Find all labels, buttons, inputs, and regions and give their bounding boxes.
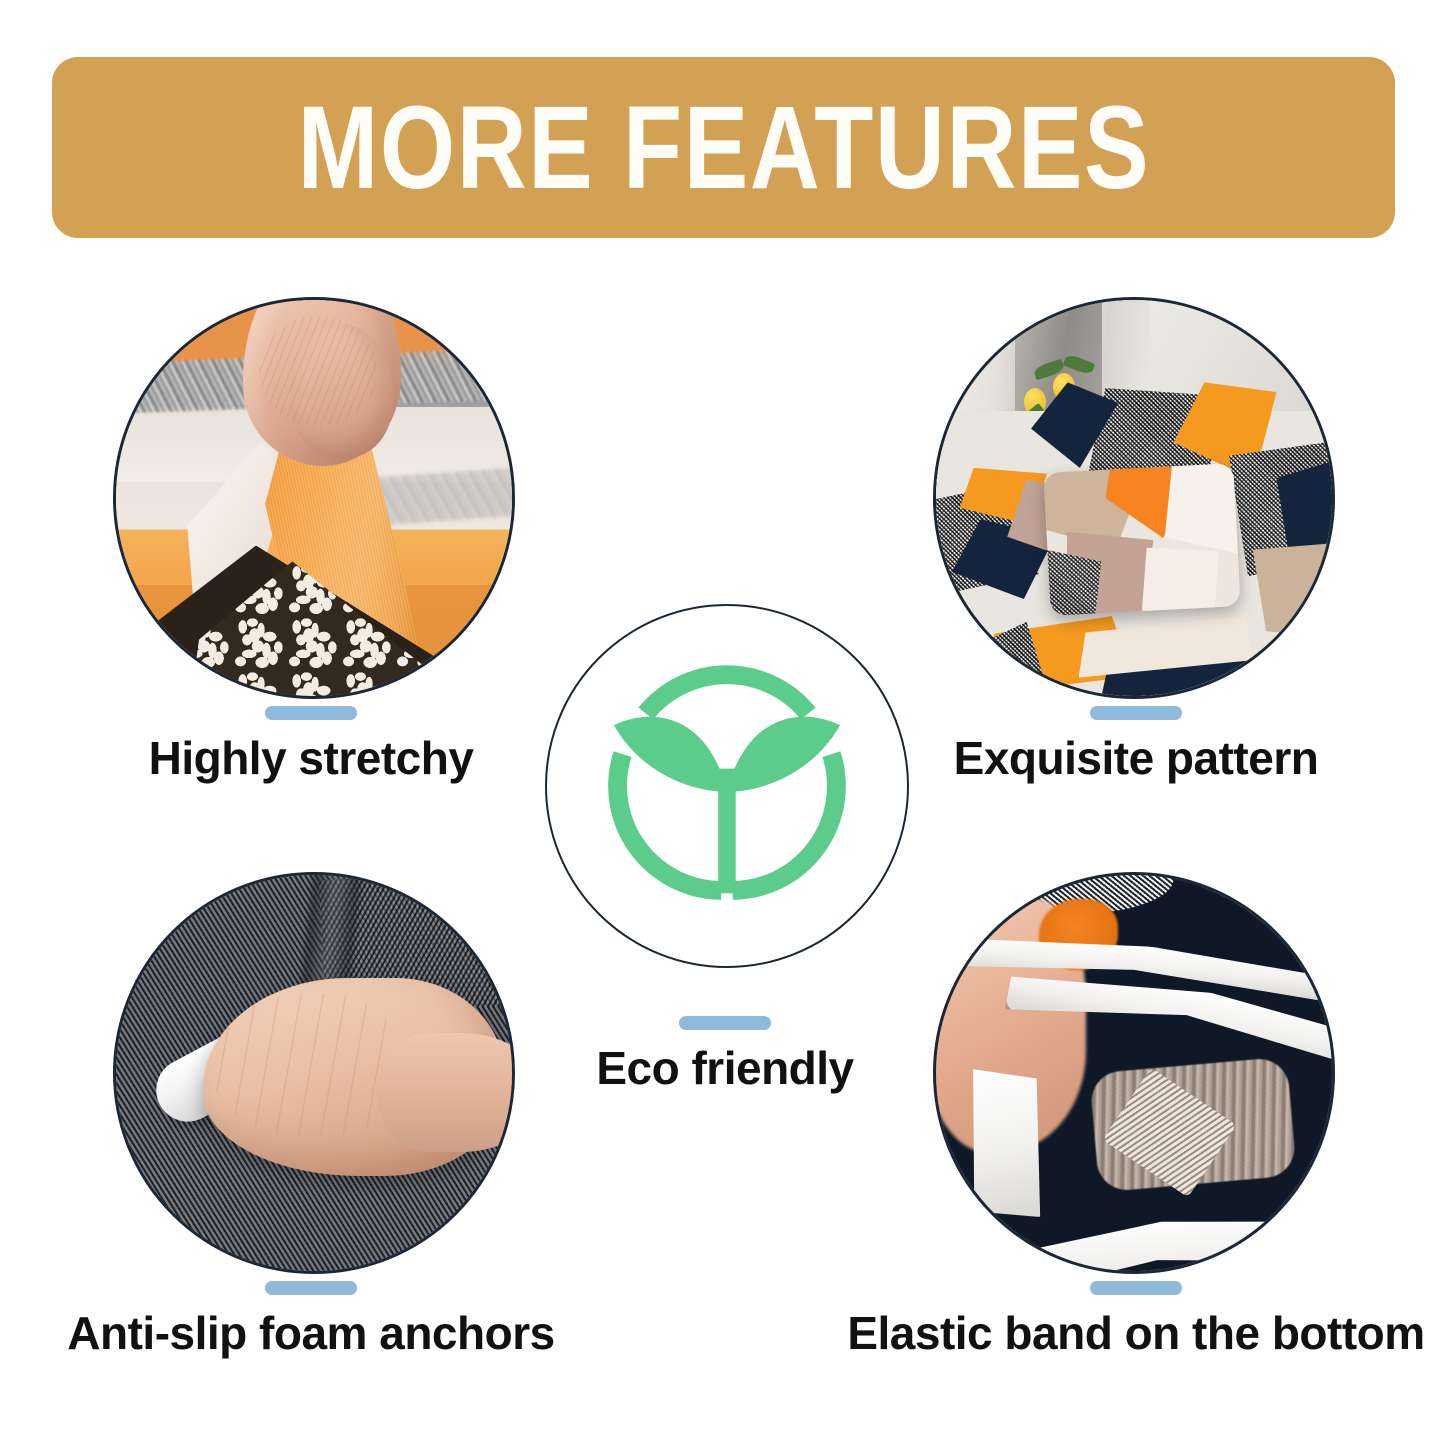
feature-image-elastic-band (933, 872, 1335, 1274)
feature-label-anti-slip-foam-anchors: Anti-slip foam anchors (61, 1281, 561, 1357)
feature-image-highly-stretchy (113, 297, 515, 699)
feature-label-text: Elastic band on the bottom (847, 1309, 1424, 1357)
feature-image-eco-friendly (545, 604, 909, 968)
label-accent-dash (265, 706, 357, 720)
feature-image-anti-slip-foam-anchors (113, 872, 515, 1274)
label-accent-dash (679, 1016, 771, 1030)
sofa-tan-panel (1253, 542, 1332, 639)
foam-anchor-photo (116, 875, 512, 1271)
feature-label-highly-stretchy: Highly stretchy (111, 706, 511, 782)
feature-label-text: Eco friendly (596, 1044, 853, 1092)
stretch-fabric-photo (116, 300, 512, 696)
feature-label-text: Anti-slip foam anchors (67, 1309, 554, 1357)
page-title: MORE FEATURES (297, 89, 1150, 207)
wrist (377, 1033, 512, 1152)
feature-label-text: Exquisite pattern (954, 734, 1319, 782)
hand-skin-lines (259, 316, 378, 427)
label-accent-dash (1090, 1281, 1182, 1295)
feature-label-text: Highly stretchy (149, 734, 474, 782)
patterned-sofa-photo (936, 300, 1332, 696)
page-header-banner: MORE FEATURES (52, 57, 1395, 238)
sofa-body (936, 411, 1332, 696)
eco-sprout-icon (582, 641, 872, 931)
hand-fingers (211, 994, 401, 1137)
pillow-cream-panel (1161, 463, 1241, 561)
feature-label-eco-friendly: Eco friendly (545, 1016, 905, 1092)
throw-pillow (1043, 463, 1240, 615)
elastic-band-photo (936, 875, 1332, 1271)
pillow-cream-panel (1139, 544, 1223, 616)
feature-label-exquisite-pattern: Exquisite pattern (936, 706, 1336, 782)
plant-leaf (1063, 353, 1096, 376)
label-accent-dash (265, 1281, 357, 1295)
label-accent-dash (1090, 706, 1182, 720)
feature-image-exquisite-pattern (933, 297, 1335, 699)
feature-label-elastic-band: Elastic band on the bottom (856, 1281, 1416, 1357)
